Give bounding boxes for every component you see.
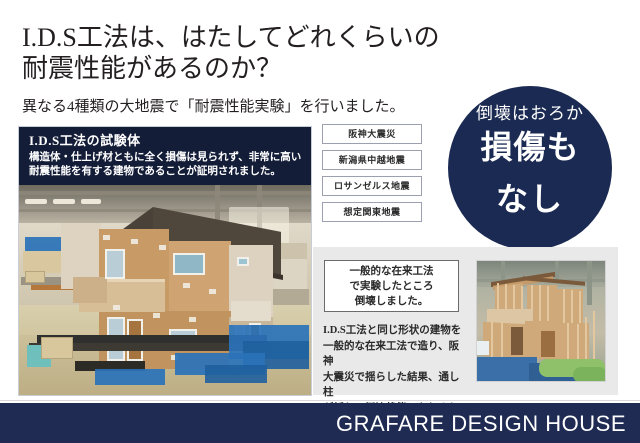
test-body-caption: I.D.S工法の試験体 構造体・仕上げ材ともに全く損傷は見られず、非常に高い耐震… (19, 127, 311, 185)
earthquake-item-0[interactable]: 阪神大震災 (322, 124, 422, 144)
comparison-body-line-3: 大震災で揺らした結果、通し柱 (323, 370, 468, 401)
badge-line-2: 損傷も (448, 122, 612, 168)
badge-line-3: なし (448, 174, 612, 220)
status-badge: 倒壊はおろか 損傷も なし (448, 86, 612, 250)
callout-line-2: で実験したところ (325, 279, 458, 294)
subtitle: 異なる4種類の大地震で「耐震性能実験」を行いました。 (22, 98, 452, 117)
footer-divider (0, 400, 640, 401)
comparison-body-line-2: 一般的な在来工法で造り、阪神 (323, 339, 468, 370)
badge-line-1: 倒壊はおろか (448, 99, 612, 124)
earthquake-item-2[interactable]: ロサンゼルス地震 (322, 176, 422, 196)
test-body-panel: I.D.S工法の試験体 構造体・仕上げ材ともに全く損傷は見られず、非常に高い耐震… (18, 126, 312, 396)
headline-line-2: 耐震性能があるのか？ (22, 53, 462, 84)
headline-line-1: I.D.S工法は、はたしてどれくらいの (22, 23, 440, 52)
earthquake-list: 阪神大震災 新潟県中越地震 ロサンゼルス地震 想定関東地震 (322, 124, 422, 228)
collapsed-house-photo (476, 260, 606, 382)
poster-page: I.D.S工法は、はたしてどれくらいの 耐震性能があるのか？ 異なる4種類の大地… (0, 0, 640, 443)
comparison-body-line-1: I.D.S工法と同じ形状の建物を (323, 323, 468, 339)
comparison-panel: 一般的な在来工法 で実験したところ 倒壊しました。 I.D.S工法と同じ形状の建… (313, 247, 618, 395)
comparison-callout: 一般的な在来工法 で実験したところ 倒壊しました。 (324, 260, 459, 312)
test-body-caption-title: I.D.S工法の試験体 (29, 132, 303, 149)
brand-logo: GRAFARE DESIGN HOUSE (336, 411, 626, 437)
earthquake-item-1[interactable]: 新潟県中越地震 (322, 150, 422, 170)
footer-bar: GRAFARE DESIGN HOUSE (0, 403, 640, 443)
test-body-caption-body: 構造体・仕上げ材ともに全く損傷は見られず、非常に高い耐震性能を有する建物であるこ… (29, 151, 303, 178)
earthquake-item-3[interactable]: 想定関東地震 (322, 202, 422, 222)
callout-line-1: 一般的な在来工法 (325, 264, 458, 279)
page-title: I.D.S工法は、はたしてどれくらいの 耐震性能があるのか？ (22, 22, 462, 84)
callout-line-3: 倒壊しました。 (325, 294, 458, 309)
test-body-photo (19, 185, 311, 395)
